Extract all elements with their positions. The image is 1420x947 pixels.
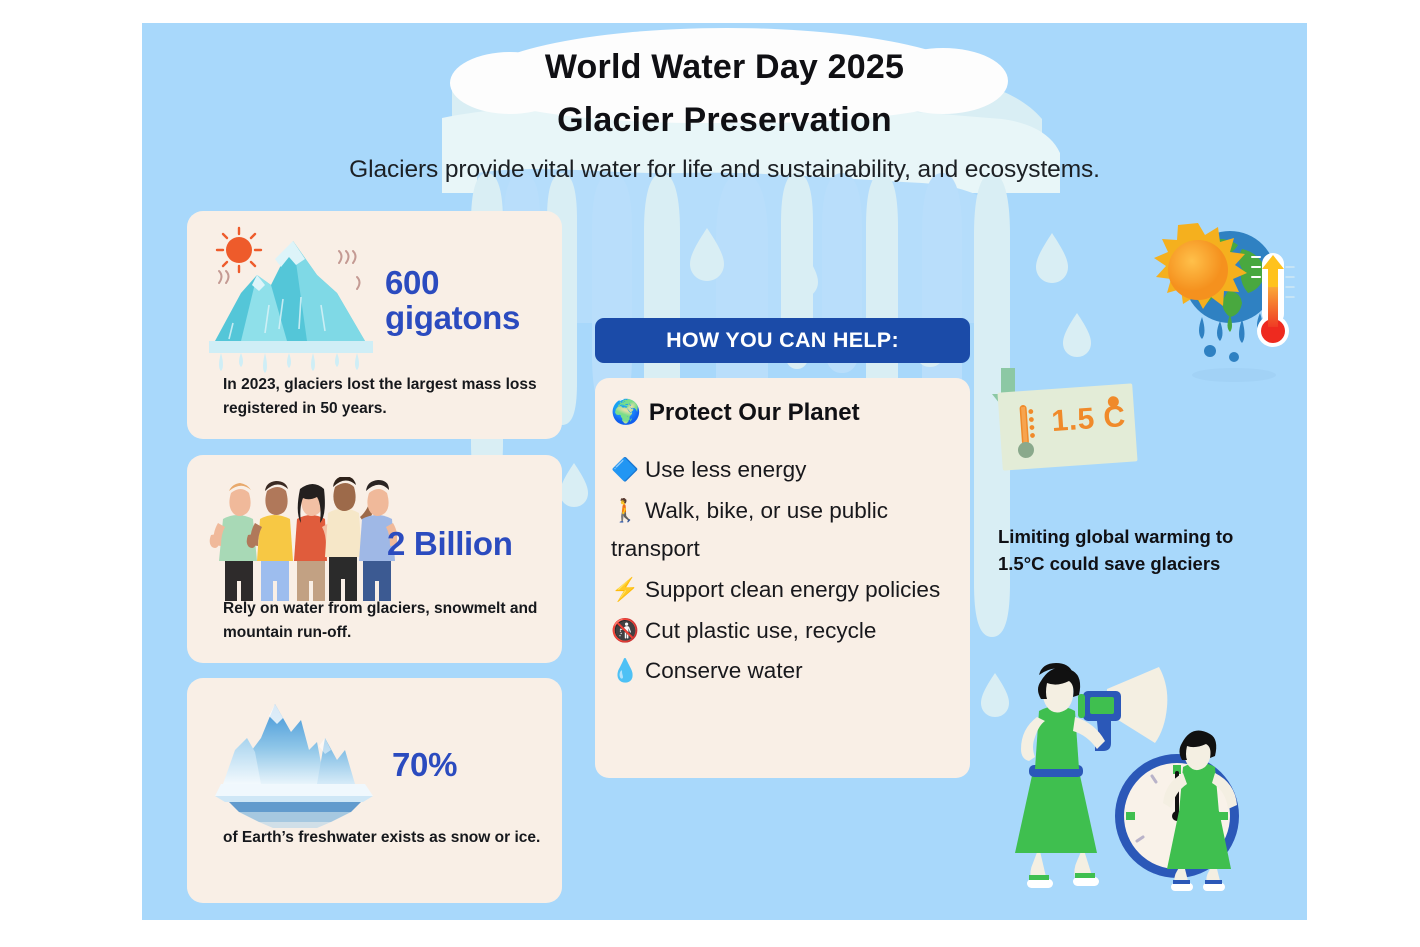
melting-glacier-icon: [197, 223, 387, 373]
help-panel: 🌍 Protect Our Planet 🔷Use less energy 🚶W…: [595, 378, 970, 778]
page-subtitle: Glaciers provide vital water for life an…: [142, 140, 1307, 184]
no-littering-icon: 🚯: [611, 618, 639, 643]
stat-value-3: 70%: [392, 748, 457, 783]
stat-card-seventy-percent: 70% of Earth’s freshwater exists as snow…: [187, 678, 562, 903]
header-block: World Water Day 2025 Glacier Preservatio…: [142, 23, 1307, 184]
thermometer-icon: [1012, 402, 1042, 460]
help-heading-text: Protect Our Planet: [649, 399, 860, 427]
stat-value-1: 600 gigatons: [385, 266, 520, 336]
stat-unit-1: gigatons: [385, 301, 520, 336]
right-caption: Limiting global warming to 1.5°C could s…: [998, 523, 1248, 578]
help-item: 🚶Walk, bike, or use public transport: [611, 492, 954, 569]
help-item: 🚯Cut plastic use, recycle: [611, 612, 954, 651]
page-title-line2: Glacier Preservation: [142, 87, 1307, 140]
help-item: 💧Conserve water: [611, 652, 954, 691]
stat-card-two-billion: 2 Billion Rely on water from glaciers, s…: [187, 455, 562, 663]
stat-card-gigatons: 600 gigatons In 2023, glaciers lost the …: [187, 211, 562, 439]
help-item-text: Support clean energy policies: [645, 577, 940, 602]
stat-value-2: 2 Billion: [387, 527, 513, 562]
blue-diamond-icon: 🔷: [611, 457, 639, 482]
degree-dot-icon: [1106, 394, 1121, 409]
lightning-bolt-icon: ⚡: [611, 577, 639, 602]
stat-caption-3: of Earth’s freshwater exists as snow or …: [223, 826, 542, 850]
help-banner-label: HOW YOU CAN HELP:: [666, 328, 899, 353]
help-item-text: Walk, bike, or use public transport: [611, 498, 888, 562]
how-you-can-help-banner: HOW YOU CAN HELP:: [595, 318, 970, 363]
stat-caption-1: In 2023, glaciers lost the largest mass …: [223, 373, 542, 421]
help-item-text: Cut plastic use, recycle: [645, 618, 876, 643]
page-title-line1: World Water Day 2025: [142, 23, 1307, 87]
stat-number-3: 70%: [392, 748, 457, 783]
help-item-text: Conserve water: [645, 658, 803, 683]
help-item: 🔷Use less energy: [611, 451, 954, 490]
stat-number-1: 600: [385, 266, 520, 301]
help-item: ⚡Support clean energy policies: [611, 571, 954, 610]
warming-globe-thermometer-icon: [1142, 215, 1302, 390]
group-of-people-icon: [207, 477, 397, 605]
help-item-text: Use less energy: [645, 457, 806, 482]
stat-caption-2: Rely on water from glaciers, snowmelt an…: [223, 597, 542, 645]
water-droplet-icon: 💧: [611, 658, 639, 683]
infographic-canvas: World Water Day 2025 Glacier Preservatio…: [142, 23, 1307, 920]
megaphone-clock-people-icon: [987, 661, 1277, 896]
help-heading: 🌍 Protect Our Planet: [611, 398, 954, 427]
globe-icon: 🌍: [611, 398, 641, 427]
iceberg-icon: [205, 698, 390, 828]
stat-number-2: 2 Billion: [387, 527, 513, 562]
temperature-card: 1.5 C: [997, 383, 1137, 470]
walking-person-icon: 🚶: [611, 498, 639, 523]
